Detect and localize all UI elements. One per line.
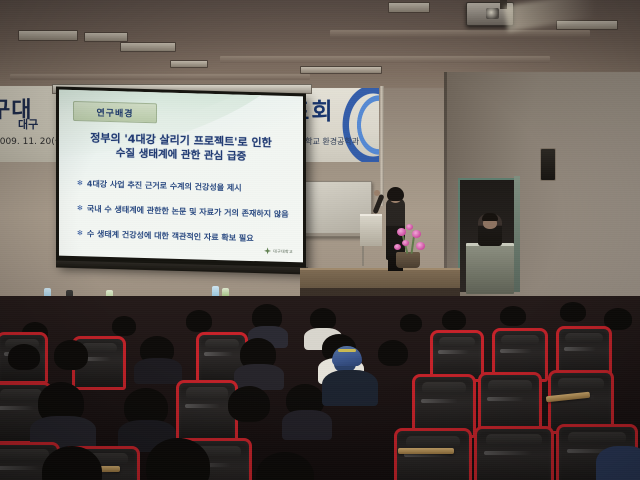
orchid-bloom	[406, 224, 413, 230]
audience-member-body	[134, 358, 182, 384]
podium-person-hair	[482, 213, 498, 221]
audience-member	[400, 314, 422, 332]
audience-member	[560, 302, 586, 322]
projection-screen: 연구배경 정부의 '4대강 살리기 프로젝트'로 인한 수질 생태계에 관한 관…	[56, 87, 306, 272]
recessed-light	[388, 2, 430, 13]
presenter-hair	[387, 187, 404, 201]
ceiling-tile	[330, 30, 590, 37]
audience-member	[256, 452, 314, 480]
recessed-light	[18, 30, 78, 41]
slide-footer-logo: 대구대학교	[264, 247, 293, 255]
audience-member	[54, 340, 88, 370]
banner-left-subline: 대구	[18, 116, 38, 132]
recessed-light	[84, 32, 128, 42]
recessed-light	[300, 66, 382, 74]
slide-footer-logo-text: 대구대학교	[273, 248, 293, 255]
projector-lens-icon	[486, 8, 499, 19]
ceiling-tile	[220, 56, 550, 63]
ceiling-tile	[10, 74, 310, 80]
seat	[394, 428, 472, 480]
recessed-light	[120, 42, 176, 52]
orchid-bloom	[416, 242, 425, 250]
seat-tray	[398, 448, 454, 454]
audience-member-body	[282, 410, 332, 440]
audience-member	[186, 310, 212, 332]
recessed-light	[170, 60, 208, 68]
slide-surface: 연구배경 정부의 '4대강 살리기 프로젝트'로 인한 수질 생태계에 관한 관…	[59, 90, 303, 263]
wall-speaker-icon	[540, 148, 556, 181]
capped-audience-member-body	[322, 370, 378, 406]
audience-member	[8, 344, 40, 370]
orchid-bloom	[394, 244, 401, 250]
audience-member	[112, 316, 136, 336]
audience-member	[228, 386, 270, 422]
audience-member	[442, 310, 466, 330]
banner-pole	[380, 86, 384, 206]
side-podium	[466, 243, 514, 294]
bullet-marker-icon: ✻	[77, 178, 83, 189]
slide-bullet-item: ✻ 국내 수 생태계에 관한한 논문 및 자료가 거의 존재하지 않음	[77, 203, 293, 220]
orchid-bloom	[412, 230, 421, 238]
audience-member	[378, 340, 408, 366]
slide-bullet-text: 4대강 사업 추진 근거로 수계의 건강성을 제시	[87, 178, 242, 193]
audience-member-body	[596, 446, 640, 480]
slide-bullet-text: 국내 수 생태계에 관한한 논문 및 자료가 거의 존재하지 않음	[87, 203, 289, 220]
slide-section-tab: 연구배경	[73, 101, 157, 123]
audience-member	[500, 306, 526, 326]
bullet-marker-icon: ✻	[77, 203, 83, 214]
slide-bullet-list: ✻ 4대강 사업 추진 근거로 수계의 건강성을 제시 ✻ 국내 수 생태계에 …	[77, 178, 293, 259]
slide-section-tab-label: 연구배경	[96, 105, 133, 119]
audience-member	[310, 308, 336, 330]
slide-heading: 정부의 '4대강 살리기 프로젝트'로 인한 수질 생태계에 관한 관심 급증	[59, 130, 303, 167]
baseball-cap-stripe	[338, 349, 356, 352]
orchid-bloom	[402, 240, 409, 246]
lecture-hall-photo: 구대 대구 2009. 11. 20(금) 발표회 표회 대구대학교 환경공학과…	[0, 0, 640, 480]
slide-bullet-item: ✻ 4대강 사업 추진 근거로 수계의 건강성을 제시	[77, 178, 293, 195]
audience-seating	[0, 296, 640, 480]
university-logo-icon	[264, 247, 271, 254]
door-frame	[514, 176, 520, 292]
presenter-hand	[374, 190, 380, 196]
slide-bullet-item: ✻ 수 생태계 건강성에 대한 객관적인 자료 확보 필요	[77, 228, 293, 245]
flower-pot	[396, 252, 420, 268]
orchid-bloom	[397, 228, 406, 236]
seat	[474, 426, 554, 480]
side-lectern	[360, 214, 382, 246]
slide-bullet-text: 수 생태계 건강성에 대한 객관적인 자료 확보 필요	[87, 228, 254, 244]
bullet-marker-icon: ✻	[77, 228, 83, 239]
